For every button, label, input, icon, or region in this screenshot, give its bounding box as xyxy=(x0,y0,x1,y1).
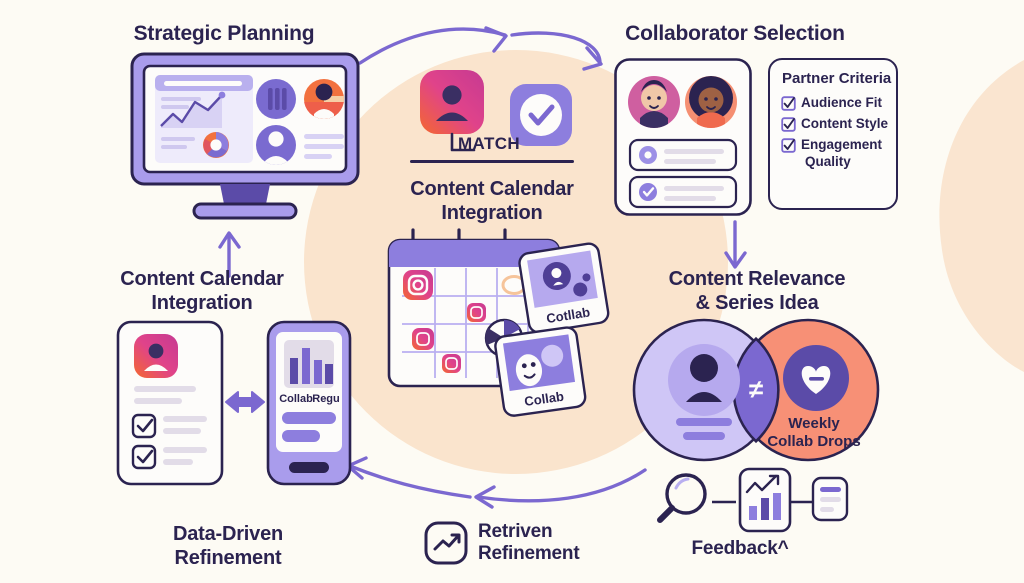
photo-card: Collab xyxy=(494,326,586,417)
venn-right-label-line2: Collab Drops xyxy=(767,433,860,450)
double-arrow-icon xyxy=(226,392,264,412)
criteria-item[interactable]: Audience Fit xyxy=(781,95,896,111)
instagram-icon xyxy=(412,328,434,350)
list-item xyxy=(630,140,736,170)
checkbox-checked-icon xyxy=(781,96,796,111)
instagram-icon xyxy=(442,354,461,373)
list-item xyxy=(630,177,736,207)
partner-criteria-heading: Partner Criteria xyxy=(782,70,896,87)
content-calendar-center-title: Content Calendar Integration xyxy=(392,178,592,225)
venn-diagram: ≠ Weekly Collab Drops xyxy=(630,318,882,464)
checkbox-checked-icon xyxy=(133,415,155,437)
checkbox-checked-icon xyxy=(781,138,796,153)
partner-criteria-card[interactable]: Partner Criteria Audience Fit Content St… xyxy=(768,58,898,210)
phone-chart-label: Regu xyxy=(312,393,340,405)
criteria-label-second-line: Quality xyxy=(805,154,882,171)
analytics-document-icon xyxy=(740,469,790,531)
checkbox-checked-icon xyxy=(781,117,796,132)
phone-chart-label: Collab xyxy=(279,393,313,405)
center-divider xyxy=(410,160,574,163)
instagram-icon xyxy=(403,270,433,300)
checkbox-checked-icon xyxy=(133,446,155,468)
criteria-label: Content Style xyxy=(801,116,888,131)
strategic-planning-title: Strategic Planning xyxy=(94,22,354,47)
arrow-refinement-to-calendar-path xyxy=(350,466,470,497)
trend-up-icon xyxy=(424,521,468,565)
match-badge-label: MATCH xyxy=(458,134,520,154)
data-driven-refinement-title: Data-Driven Refinement xyxy=(110,523,346,570)
infographic-canvas: Strategic Planning xyxy=(0,0,1024,583)
criteria-item[interactable]: Engagement Quality xyxy=(781,137,896,171)
refinement-cards-group: Collab Regu xyxy=(116,320,352,488)
instagram-icon xyxy=(467,303,486,322)
content-relevance-title: Content Relevance & Series Idea xyxy=(636,268,878,315)
checklist-card[interactable] xyxy=(118,322,222,484)
magnifier-icon xyxy=(660,475,705,520)
smartphone-icon[interactable]: Collab Regu xyxy=(268,322,350,484)
criteria-item[interactable]: Content Style xyxy=(781,116,896,132)
monitor-icon xyxy=(128,52,362,224)
content-calendar-left-title: Content Calendar Integration xyxy=(104,268,300,315)
venn-operator-label: ≠ xyxy=(749,374,763,404)
criteria-label: Engagement xyxy=(801,137,882,154)
venn-right-label-line1: Weekly xyxy=(788,415,840,432)
criteria-label: Audience Fit xyxy=(801,95,882,110)
retriven-refinement-title: Retriven Refinement xyxy=(478,521,688,566)
collaborator-card[interactable] xyxy=(614,58,752,216)
arrow-feedback-to-refinement-path xyxy=(478,470,645,501)
photo-card: Cotllab xyxy=(518,242,610,334)
arrow-planning-to-center-path xyxy=(360,29,505,63)
text-document-icon xyxy=(813,478,847,520)
collaborator-selection-title: Collaborator Selection xyxy=(600,22,870,47)
calendar-icon: Cotllab Collab xyxy=(372,228,632,416)
